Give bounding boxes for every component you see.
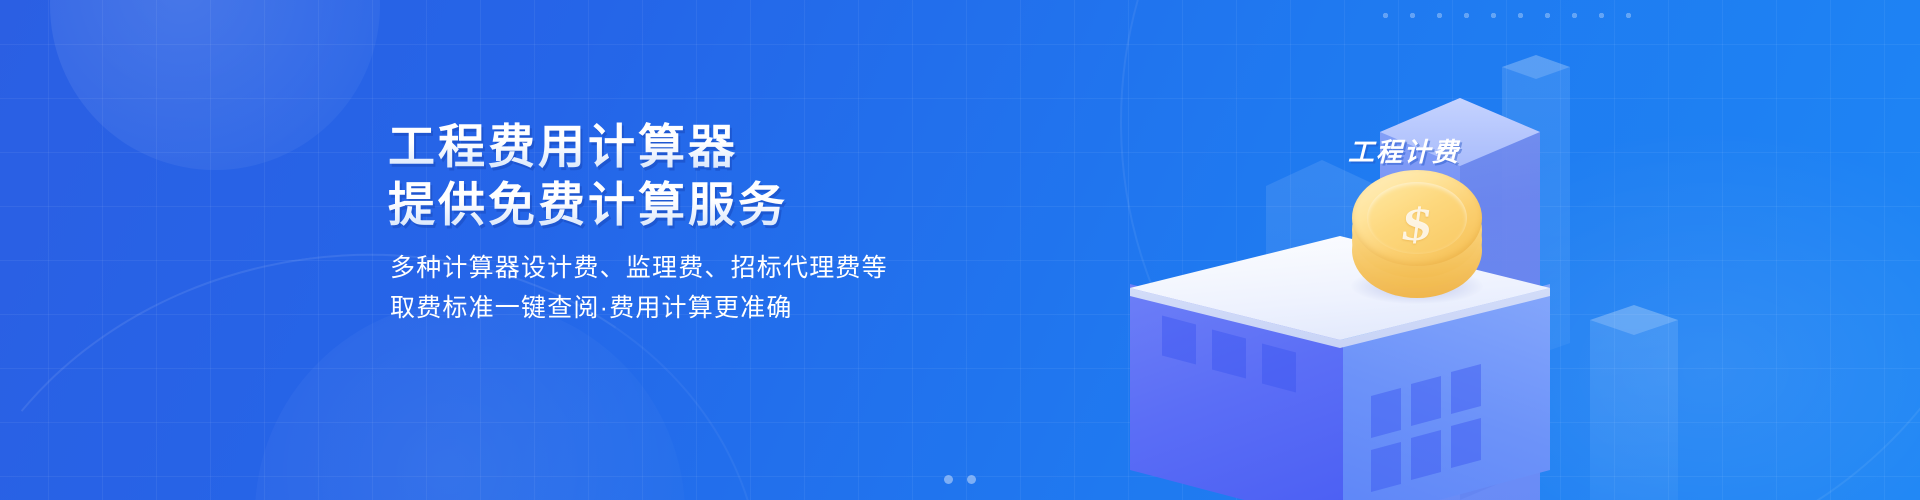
building-window (1371, 442, 1401, 492)
building-window (1162, 315, 1196, 364)
headline-line-2: 提供免费计算服务 (388, 176, 788, 234)
building-window (1371, 388, 1401, 438)
building-window (1411, 376, 1441, 426)
headline-line-1: 工程费用计算器 (388, 118, 738, 176)
isometric-illustration: $ (1090, 0, 1710, 500)
building-window (1451, 364, 1481, 414)
badge-engineering-fee: 工程计费 (1348, 132, 1460, 169)
subtitle-line-2: 取费标准一键查阅·费用计算更准确 (390, 288, 793, 328)
building-window (1411, 430, 1441, 480)
dollar-sign-icon: $ (1337, 182, 1497, 265)
building-window (1212, 329, 1246, 378)
building-window (1262, 343, 1296, 392)
promo-banner: $ 工程计费 工程费用计算器 提供免费计算服务 多种计算器设计费、监理费、招标代… (0, 0, 1920, 500)
gold-coin-stack: $ (1343, 172, 1491, 306)
decorative-circle-top-left (50, 0, 380, 170)
subtitle-line-1: 多种计算器设计费、监理费、招标代理费等 (390, 248, 888, 288)
carousel-dots[interactable] (944, 475, 976, 484)
building-window (1451, 418, 1481, 468)
carousel-dot-1[interactable] (944, 475, 953, 484)
carousel-dot-2[interactable] (967, 475, 976, 484)
banner-copy: 工程费用计算器 提供免费计算服务 多种计算器设计费、监理费、招标代理费等 取费标… (388, 0, 1008, 500)
